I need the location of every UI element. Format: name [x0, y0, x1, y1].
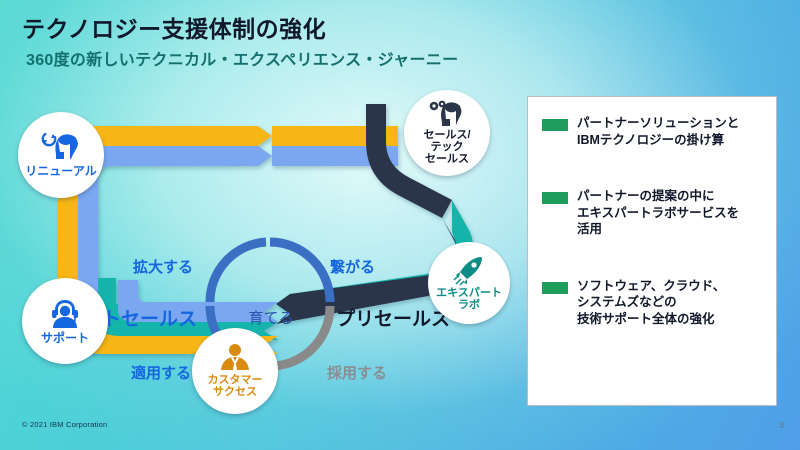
bullet-text: パートナーの提案の中に エキスパートラボサービスを 活用 [577, 188, 739, 238]
node-renewal[interactable]: リニューアル [18, 112, 104, 198]
bullet-item: パートナーの提案の中に エキスパートラボサービスを 活用 [542, 188, 764, 238]
ring-center-label: 育てる [231, 307, 311, 328]
label-apply: 適用する [131, 362, 191, 383]
slide-canvas: テクノロジー支援体制の強化 360度の新しいテクニカル・エクスペリエンス・ジャー… [0, 0, 800, 450]
node-support[interactable]: サポート [22, 278, 108, 364]
ribbon-top-left-blue [78, 146, 272, 227]
key-points-panel: パートナーソリューションと IBMテクノロジーの掛け算 パートナーの提案の中に … [527, 96, 777, 406]
business-person-icon [217, 343, 253, 373]
page-number: 3 [780, 421, 784, 430]
node-renewal-label: リニューアル [25, 165, 96, 178]
copyright-footer: © 2021 IBM Corporation [22, 420, 107, 429]
rocket-icon [452, 254, 486, 286]
node-expert-label: エキスパート ラボ [436, 288, 502, 312]
label-adopt: 採用する [327, 362, 387, 383]
node-expert-lab[interactable]: エキスパート ラボ [428, 242, 510, 324]
page-title: テクノロジー支援体制の強化 [22, 10, 326, 44]
bullet-text: ソフトウェア、クラウド、 システムズなどの 技術サポート全体の強化 [577, 278, 725, 328]
label-expand: 拡大する [133, 256, 193, 277]
journey-diagram: 育てる 拡大する 繋がる 適用する 採用する ポストセールス プリセールス リニ… [0, 82, 520, 412]
node-sales-label: セールス/ テック セールス [423, 130, 470, 166]
node-customer-success[interactable]: カスタマー サクセス [192, 328, 278, 414]
node-support-label: サポート [41, 332, 89, 345]
page-subtitle: 360度の新しいテクニカル・エクスペリエンス・ジャーニー [26, 46, 458, 70]
headset-agent-icon [46, 297, 84, 329]
bullet-item: パートナーソリューションと IBMテクノロジーの掛け算 [542, 115, 764, 148]
bullet-marker-icon [542, 282, 568, 294]
ring-segment-expand [210, 242, 266, 302]
bullet-text: パートナーソリューションと IBMテクノロジーの掛け算 [577, 115, 739, 148]
bullet-item: ソフトウェア、クラウド、 システムズなどの 技術サポート全体の強化 [542, 278, 764, 328]
bullet-marker-icon [542, 119, 568, 131]
head-refresh-icon [40, 132, 82, 162]
label-connect: 繋がる [330, 256, 375, 277]
head-gears-icon [426, 100, 468, 128]
node-sales-techsales[interactable]: セールス/ テック セールス [404, 90, 490, 176]
label-pre-sales: プリセールス [336, 304, 450, 331]
node-customer-label: カスタマー サクセス [208, 375, 263, 399]
bullet-marker-icon [542, 192, 568, 204]
